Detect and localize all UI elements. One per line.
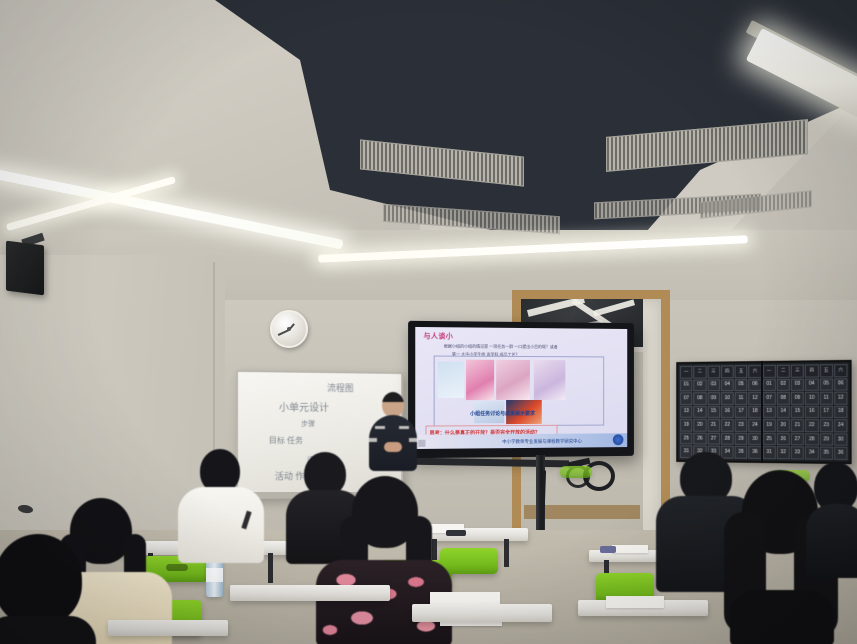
number-board-cell-4-5[interactable]: 30 <box>749 433 762 446</box>
number-board-cell-2-6[interactable]: 13 <box>762 406 775 419</box>
number-board-cell-4-4[interactable]: 29 <box>735 433 748 446</box>
number-board-header-5: 六 <box>749 365 762 378</box>
student-back-right-torso <box>806 504 857 578</box>
number-board-cell-4-9[interactable]: 28 <box>805 433 818 446</box>
chair-far-back <box>560 466 592 478</box>
student-curly-hair-torso <box>730 590 834 644</box>
number-board-cell-4-0[interactable]: 25 <box>680 432 693 444</box>
slide-image-pink-poster <box>466 360 494 400</box>
number-board-cell-1-9[interactable]: 10 <box>805 392 818 405</box>
number-board-cell-5-7[interactable]: 32 <box>777 447 790 460</box>
number-board-header-7: 二 <box>777 365 790 378</box>
student-dark-front-left <box>0 534 96 644</box>
number-board-cell-0-9[interactable]: 04 <box>805 378 818 391</box>
number-board-cell-3-11[interactable]: 24 <box>834 419 848 432</box>
slide-subtitle-1: 根据小组的小组的情况是 一项任务一群 一口提出小目的呢？或者 <box>444 343 558 350</box>
number-board-cell-4-8[interactable]: 27 <box>791 433 804 446</box>
number-board-cell-4-10[interactable]: 29 <box>819 433 832 446</box>
slide-image-pink-diagram <box>496 360 530 400</box>
slide-title: 与人谈小 <box>423 331 453 341</box>
number-board-cell-0-5[interactable]: 06 <box>749 379 762 392</box>
number-board-cell-4-1[interactable]: 26 <box>694 432 707 444</box>
presenter <box>367 392 419 470</box>
number-board-cell-3-7[interactable]: 20 <box>777 419 790 432</box>
desk-front-left <box>108 620 228 636</box>
number-board-cell-4-7[interactable]: 26 <box>777 433 790 446</box>
number-board-cell-4-2[interactable]: 27 <box>707 433 720 446</box>
number-board-cell-4-11[interactable]: 30 <box>834 433 848 446</box>
whiteboard-line-3: 目标 任务 <box>269 435 303 446</box>
presenter-hands <box>384 442 402 452</box>
number-board-cell-2-7[interactable]: 14 <box>777 406 790 419</box>
number-board-header-9: 四 <box>805 364 818 377</box>
number-board-header-8: 三 <box>791 365 804 378</box>
slide-image-purple-diagram <box>534 360 565 400</box>
number-board-cell-3-8[interactable]: 21 <box>791 419 804 432</box>
number-board-cell-1-3[interactable]: 10 <box>721 392 734 404</box>
number-board-cell-2-4[interactable]: 17 <box>735 406 748 419</box>
paper-stack-far-right <box>606 596 664 608</box>
water-bottle-label <box>206 568 223 582</box>
number-board-cell-0-4[interactable]: 05 <box>735 379 748 392</box>
number-board-header-1: 二 <box>694 366 707 378</box>
number-board-cell-3-9[interactable]: 22 <box>805 419 818 432</box>
slide-footer-text: 中小学教师专业发展与课程教学研究中心 <box>502 439 582 446</box>
number-board-cell-1-5[interactable]: 12 <box>749 392 762 405</box>
glass-reflection-3 <box>593 299 635 316</box>
number-board-cell-5-11[interactable]: 36 <box>834 447 848 460</box>
number-board-cell-2-2[interactable]: 15 <box>707 406 720 418</box>
number-board-cell-0-7[interactable]: 02 <box>777 378 790 391</box>
number-board-cell-1-0[interactable]: 07 <box>680 392 693 404</box>
desk-leg-2 <box>268 553 273 583</box>
wall-speaker-icon <box>6 241 44 296</box>
number-board-cell-0-8[interactable]: 03 <box>791 378 804 391</box>
presenter-sleeve-right <box>409 438 418 442</box>
number-board: 一二三四五六一二三四五六0102030405060102030405060708… <box>676 360 851 464</box>
desk-leg-4 <box>504 539 509 567</box>
number-board-cell-0-11[interactable]: 06 <box>834 378 848 391</box>
number-board-cell-3-10[interactable]: 23 <box>819 419 832 432</box>
slide-corner-mark <box>418 440 425 447</box>
number-board-cell-1-6[interactable]: 07 <box>762 392 775 405</box>
number-board-header-3: 四 <box>721 365 734 378</box>
number-board-cell-4-3[interactable]: 28 <box>721 433 734 446</box>
number-board-cell-2-10[interactable]: 17 <box>819 406 832 419</box>
desk-front-center <box>230 585 390 601</box>
presenter-shirt-trim-left <box>375 426 385 429</box>
student-white-blouse <box>178 449 264 559</box>
number-board-cell-5-9[interactable]: 34 <box>805 447 818 460</box>
number-board-header-11: 六 <box>834 364 848 377</box>
number-board-divider <box>761 361 763 463</box>
number-board-cell-5-10[interactable]: 35 <box>819 447 832 460</box>
display-screen: 与人谈小 根据小组的小组的情况是 一项任务一群 一口提出小目的呢？或者 第一 大… <box>415 327 627 449</box>
number-board-cell-3-4[interactable]: 23 <box>735 419 748 432</box>
paper-stack-right <box>612 545 648 553</box>
number-board-cell-2-5[interactable]: 18 <box>749 406 762 419</box>
slide-image-chart <box>438 362 464 398</box>
slide-logo-icon <box>613 434 624 445</box>
desk-front-right <box>412 604 552 622</box>
number-board-cell-3-1[interactable]: 20 <box>694 419 707 431</box>
student-back-right <box>806 462 857 572</box>
number-board-cell-2-11[interactable]: 18 <box>834 406 848 419</box>
number-board-cell-0-2[interactable]: 03 <box>707 379 720 392</box>
slide-caption: 小组任务讨论与成果展示要求 <box>470 410 535 417</box>
number-board-cell-3-2[interactable]: 21 <box>707 419 720 431</box>
number-board-cell-1-4[interactable]: 11 <box>735 392 748 405</box>
number-board-cell-1-2[interactable]: 09 <box>707 392 720 404</box>
number-board-cell-1-8[interactable]: 09 <box>791 392 804 405</box>
number-board-cell-4-6[interactable]: 25 <box>762 433 775 446</box>
number-board-cell-0-1[interactable]: 02 <box>694 379 707 391</box>
student-dark-front-left-head <box>0 534 82 626</box>
number-board-cell-1-11[interactable]: 12 <box>834 392 848 405</box>
clock-center <box>287 327 291 331</box>
number-board-cell-0-3[interactable]: 04 <box>721 379 734 392</box>
whiteboard-line-0: 流程图 <box>327 381 354 394</box>
whiteboard-line-1: 小单元设计 <box>279 399 329 414</box>
number-board-cell-1-10[interactable]: 11 <box>819 392 832 405</box>
mobile-phone-right <box>600 546 616 553</box>
presentation-display[interactable]: 与人谈小 根据小组的小组的情况是 一项任务一群 一口提出小目的呢？或者 第一 大… <box>408 321 634 458</box>
presenter-sleeve-left <box>368 438 377 442</box>
number-board-cell-3-3[interactable]: 22 <box>721 419 734 431</box>
classroom-photo: 流程图 小单元设计 步骤 目标 任务 评价 活动 作业 一二三四五六一二三四五六… <box>0 0 857 644</box>
number-board-cell-5-6[interactable]: 31 <box>762 446 775 459</box>
number-board-cell-0-6[interactable]: 01 <box>762 378 775 391</box>
student-white-blouse-torso <box>178 487 264 563</box>
number-board-cell-2-9[interactable]: 16 <box>805 406 818 419</box>
number-board-cell-0-10[interactable]: 05 <box>819 378 832 391</box>
number-board-cell-3-5[interactable]: 24 <box>749 419 762 432</box>
number-board-cell-5-8[interactable]: 33 <box>791 447 804 460</box>
number-board-header-4: 五 <box>735 365 748 378</box>
number-board-cell-2-3[interactable]: 16 <box>721 406 734 418</box>
number-board-cell-2-1[interactable]: 14 <box>694 406 707 418</box>
number-board-cell-1-1[interactable]: 08 <box>694 392 707 404</box>
number-board-cell-2-8[interactable]: 15 <box>791 406 804 419</box>
number-board-cell-3-6[interactable]: 19 <box>762 419 775 432</box>
presenter-shirt-trim-right <box>399 426 409 429</box>
number-board-header-6: 一 <box>762 365 775 378</box>
whiteboard-line-2: 步骤 <box>301 419 315 429</box>
number-board-header-2: 三 <box>707 365 720 378</box>
student-dark-front-left-torso <box>0 616 96 644</box>
number-board-cell-0-0[interactable]: 01 <box>680 379 693 391</box>
presenter-head <box>382 392 404 417</box>
number-board-cell-3-0[interactable]: 19 <box>680 419 693 431</box>
number-board-header-0: 一 <box>680 366 693 378</box>
wall-clock-icon <box>270 310 308 348</box>
number-board-header-10: 五 <box>819 364 832 377</box>
number-board-cell-1-7[interactable]: 08 <box>777 392 790 405</box>
number-board-cell-2-0[interactable]: 13 <box>680 406 693 418</box>
